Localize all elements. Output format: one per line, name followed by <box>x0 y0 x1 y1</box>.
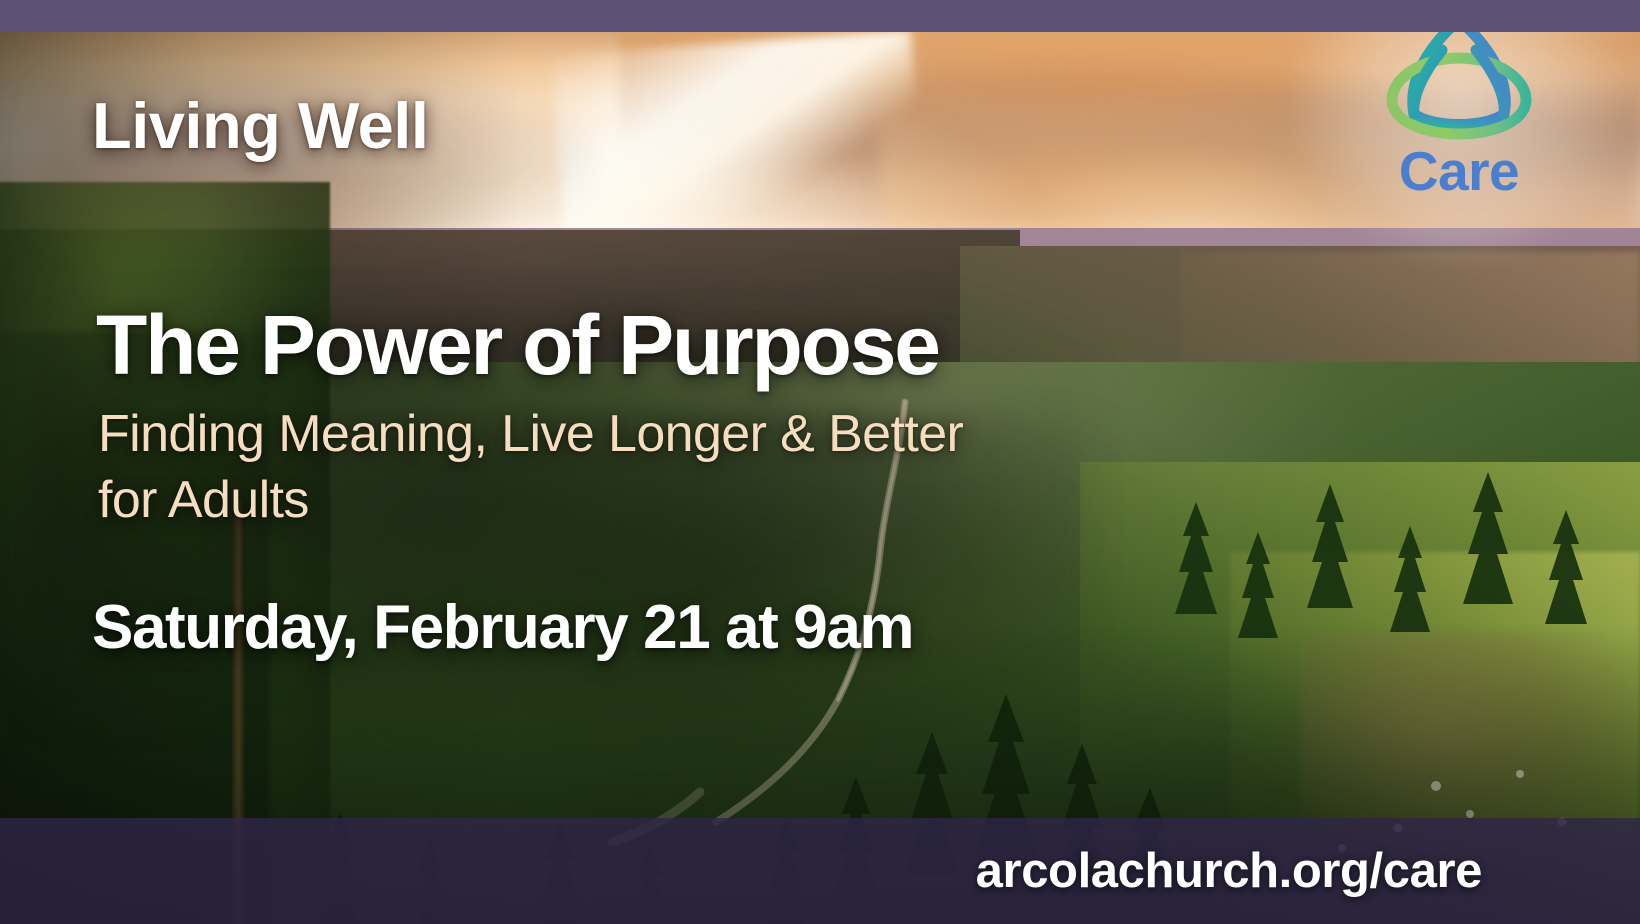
footer-bar: arcolachurch.org/care <box>0 818 1640 924</box>
subtitle-block: Finding Meaning, Live Longer & Better fo… <box>98 402 963 533</box>
page-title: The Power of Purpose <box>96 297 939 394</box>
subtitle-line-2: for Adults <box>98 468 963 534</box>
logo-wordmark: Care <box>1399 144 1519 199</box>
event-dateline: Saturday, February 21 at 9am <box>92 592 913 663</box>
subtitle-line-1: Finding Meaning, Live Longer & Better <box>98 402 963 468</box>
eyebrow-text: Living Well <box>92 88 428 163</box>
event-banner: Living Well The Power of Purpose Finding… <box>0 0 1640 924</box>
care-logo: Care <box>1364 6 1554 216</box>
website-url[interactable]: arcolachurch.org/care <box>976 843 1482 899</box>
top-accent-bar <box>0 0 1640 32</box>
